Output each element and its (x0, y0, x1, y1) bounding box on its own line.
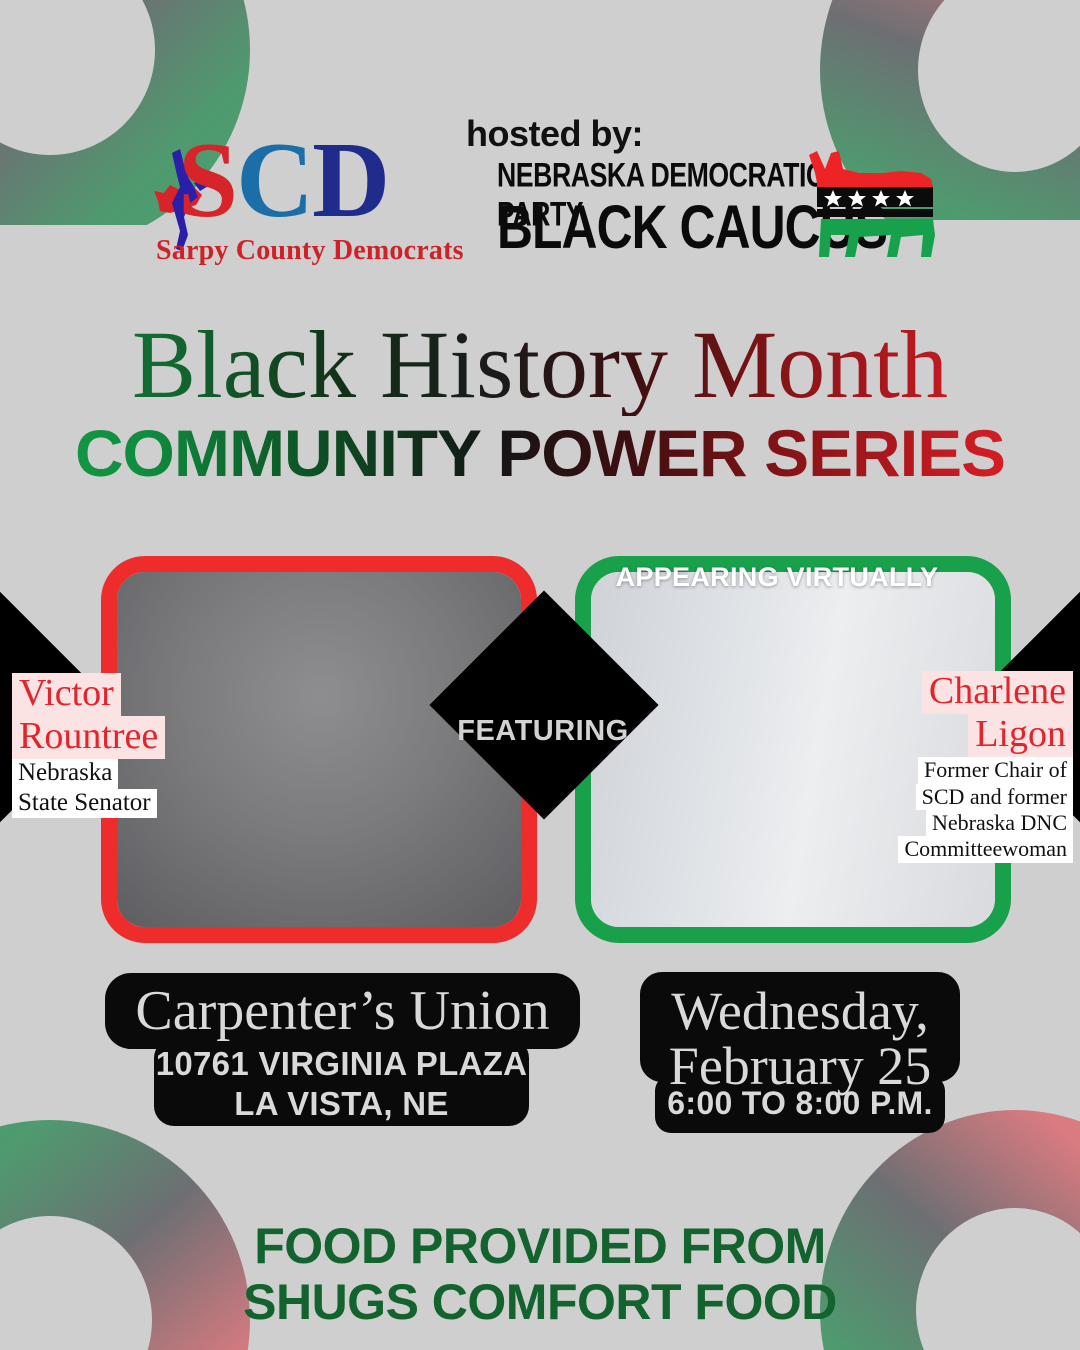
speaker-role-line1: Nebraska (12, 759, 118, 789)
speaker-name-plate-charlene-ligon: Charlene Ligon Former Chair of SCD and f… (898, 671, 1073, 863)
speaker-name-line2: Ligon (968, 714, 1073, 757)
flyer-header: hosted by: SCD Sarpy County Democrats NE… (0, 105, 1080, 295)
donkey-icon (797, 117, 947, 267)
venue-address-line1: 10761 VIRGINIA PLAZA (154, 1044, 529, 1084)
event-date-line: February 25 (640, 1039, 960, 1094)
event-day-line: Wednesday, (640, 984, 960, 1039)
food-note-line1: FOOD PROVIDED FROM (0, 1218, 1080, 1274)
scd-letter-s: S (178, 121, 236, 240)
speaker-role-line2: SCD and former (916, 784, 1073, 810)
featuring-label: FEATURING (443, 715, 643, 748)
scd-letter-d: D (312, 121, 388, 240)
speaker-name-line1: Charlene (922, 671, 1073, 714)
speaker-name-plate-victor-rountree: Victor Rountree Nebraska State Senator (12, 673, 165, 818)
venue-name: Carpenter’s Union (105, 973, 580, 1049)
scd-subtitle: Sarpy County Democrats (156, 235, 464, 267)
speaker-photo-victor-rountree (101, 556, 537, 943)
speaker-role-line1: Former Chair of (918, 757, 1073, 783)
speaker-role-line3: Nebraska DNC (926, 810, 1073, 836)
page-subtitle: COMMUNITY POWER SERIES (0, 415, 1080, 491)
food-note-line2: SHUGS COMFORT FOOD (0, 1274, 1080, 1330)
event-date: Wednesday, February 25 (640, 972, 960, 1082)
event-flyer: hosted by: SCD Sarpy County Democrats NE… (0, 0, 1080, 1350)
hosted-by-label: hosted by: (466, 113, 643, 155)
scd-logo: SCD Sarpy County Democrats (150, 135, 470, 270)
speaker-name-line2: Rountree (12, 716, 165, 759)
speaker-role-line4: Committeewoman (898, 836, 1073, 862)
food-note: FOOD PROVIDED FROM SHUGS COMFORT FOOD (0, 1218, 1080, 1330)
speaker-name-line1: Victor (12, 673, 121, 716)
page-title: Black History Month (0, 315, 1080, 416)
venue-address: 10761 VIRGINIA PLAZA LA VISTA, NE (154, 1038, 529, 1126)
virtual-appearance-badge: APPEARING VIRTUALLY (575, 556, 979, 593)
black-caucus-logo: NEBRASKA DEMOCRATIC PARTY BLACK CAUCUS (497, 157, 937, 277)
scd-letter-c: C (236, 121, 312, 240)
speaker-role-line2: State Senator (12, 789, 157, 819)
scd-letters: SCD (178, 127, 388, 235)
venue-address-line2: LA VISTA, NE (154, 1084, 529, 1124)
